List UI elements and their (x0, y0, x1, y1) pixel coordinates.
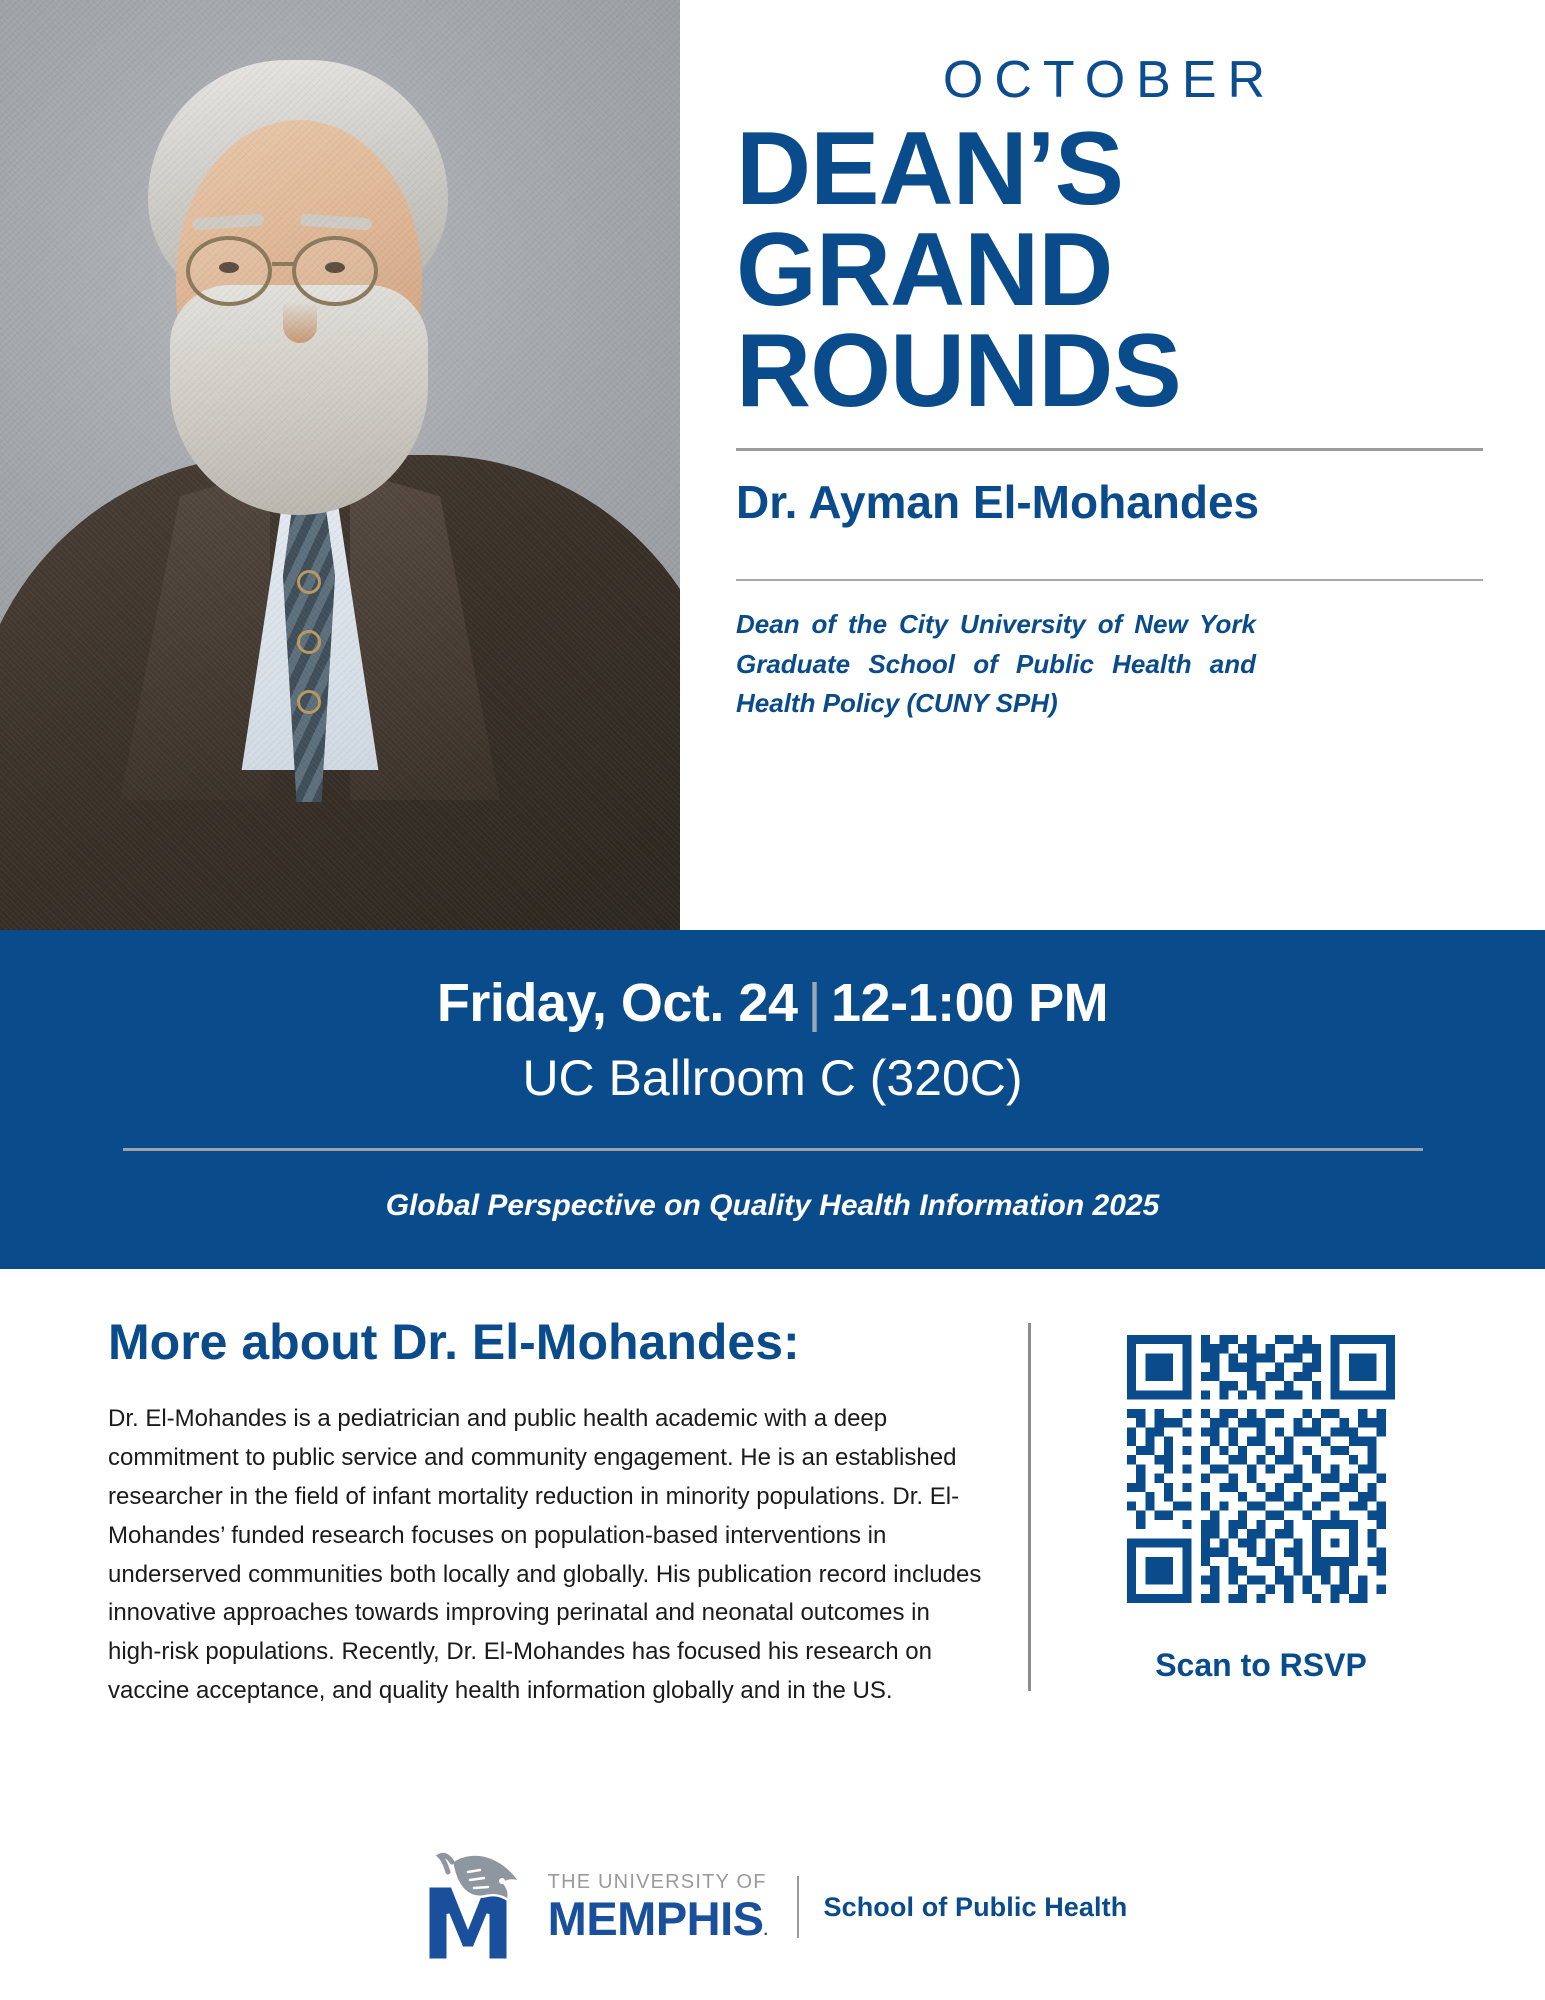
title-line-3: ROUNDS (736, 321, 1483, 422)
portrait-tie-motif (297, 630, 321, 654)
university-tagline: THE UNIVERSITY OF (548, 1872, 768, 1892)
registered-mark: . (764, 1922, 768, 1939)
qr-code[interactable] (1127, 1335, 1395, 1603)
bio-paragraph: Dr. El-Mohandes is a pediatrician and pu… (108, 1400, 988, 1711)
bio-column: More about Dr. El-Mohandes: Dr. El-Mohan… (108, 1315, 1008, 1711)
bio-body: Dr. El-Mohandes is a pediatrician and pu… (108, 1400, 988, 1711)
university-wordmark: THE UNIVERSITY OF MEMPHIS. (548, 1872, 768, 1942)
university-name-text: MEMPHIS (548, 1892, 764, 1945)
portrait-tie-motif (297, 570, 321, 594)
footer-divider (797, 1876, 799, 1938)
rsvp-column: Scan to RSVP (1091, 1315, 1431, 1711)
speaker-divider (736, 579, 1483, 581)
footer: THE UNIVERSITY OF MEMPHIS. School of Pub… (0, 1848, 1545, 1966)
speaker-affiliation: Dean of the City University of New York … (736, 605, 1256, 724)
bio-qr-divider (1028, 1323, 1031, 1691)
portrait-glasses-bridge (272, 262, 294, 266)
month-kicker: OCTOBER (736, 52, 1483, 109)
title-divider (736, 448, 1483, 451)
bio-section: More about Dr. El-Mohandes: Dr. El-Mohan… (0, 1269, 1545, 1711)
event-tagline: Global Perspective on Quality Health Inf… (0, 1189, 1545, 1223)
hero-text-column: OCTOBER DEAN’S GRAND ROUNDS Dr. Ayman El… (680, 0, 1545, 930)
event-datetime-row: Friday, Oct. 24|12-1:00 PM (0, 972, 1545, 1034)
event-time: 12-1:00 PM (831, 973, 1108, 1033)
portrait-tie-motif (297, 690, 321, 714)
speaker-portrait (0, 0, 680, 930)
title-line-2: GRAND (736, 220, 1483, 321)
scan-to-rsvp-label: Scan to RSVP (1155, 1647, 1367, 1684)
university-name: MEMPHIS. (548, 1895, 768, 1942)
event-location: UC Ballroom C (320C) (0, 1048, 1545, 1108)
portrait-glasses-right (292, 236, 378, 306)
band-divider (123, 1148, 1423, 1151)
title-line-1: DEAN’S (736, 119, 1483, 220)
event-date: Friday, Oct. 24 (437, 973, 798, 1033)
hero-section: OCTOBER DEAN’S GRAND ROUNDS Dr. Ayman El… (0, 0, 1545, 930)
portrait-glasses-left (186, 236, 272, 306)
school-name: School of Public Health (823, 1892, 1127, 1923)
datetime-separator: | (797, 973, 831, 1033)
page-title: DEAN’S GRAND ROUNDS (736, 119, 1483, 422)
speaker-name: Dr. Ayman El-Mohandes (736, 477, 1483, 528)
event-details-band: Friday, Oct. 24|12-1:00 PM UC Ballroom C… (0, 930, 1545, 1269)
bio-heading: More about Dr. El-Mohandes: (108, 1315, 1008, 1370)
university-logo: THE UNIVERSITY OF MEMPHIS. (418, 1848, 768, 1966)
memphis-tiger-m-icon (418, 1848, 530, 1966)
affiliation-text: Dean of the City University of New York … (736, 605, 1256, 724)
